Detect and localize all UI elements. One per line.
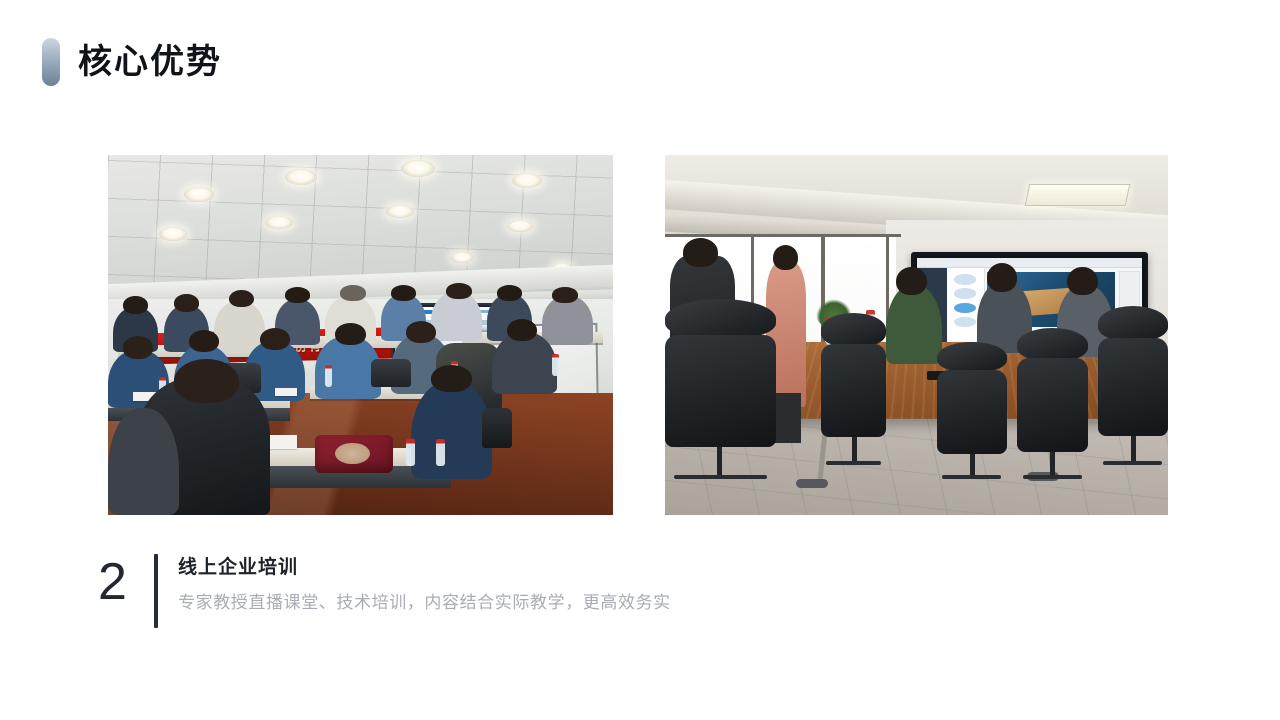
header-bullet-icon bbox=[42, 38, 60, 86]
page-title: 核心优势 bbox=[78, 45, 222, 79]
attendee-head bbox=[683, 238, 718, 267]
caption-subtitle: 专家教授直播课堂、技术培训，内容结合实际教学，更高效务实 bbox=[178, 591, 671, 617]
attendee-head bbox=[406, 321, 436, 343]
attendee-head bbox=[446, 283, 471, 299]
water-bottle bbox=[436, 439, 445, 466]
attendee-head bbox=[896, 267, 926, 296]
attendee-head bbox=[1067, 267, 1097, 296]
participant-avatar bbox=[954, 274, 976, 284]
chair-backrest bbox=[1017, 358, 1087, 452]
attendee-head bbox=[174, 294, 199, 312]
page-header: 核心优势 bbox=[42, 38, 222, 86]
chair-post bbox=[717, 447, 722, 476]
caption-divider bbox=[154, 554, 158, 628]
attendee bbox=[431, 292, 482, 341]
chair-backrest bbox=[665, 335, 776, 447]
chair-post bbox=[1131, 436, 1136, 461]
photo-meeting-room[interactable] bbox=[665, 155, 1168, 515]
ceiling-light-panel-icon bbox=[1025, 184, 1130, 206]
chair-base bbox=[942, 475, 1001, 479]
chair-post bbox=[852, 437, 857, 461]
downlight-icon bbox=[265, 216, 293, 229]
downlight-icon bbox=[512, 173, 542, 188]
attendee bbox=[492, 332, 558, 394]
participant-avatar bbox=[954, 303, 976, 313]
attendee-head bbox=[174, 359, 240, 404]
audience-area bbox=[108, 292, 613, 515]
chair-base bbox=[674, 475, 767, 479]
office-chair bbox=[821, 313, 886, 464]
attendee-head bbox=[260, 328, 290, 350]
chair-headrest bbox=[665, 299, 776, 339]
water-bottle bbox=[552, 354, 559, 376]
caption-text-group: 线上企业培训 专家教授直播课堂、技术培训，内容结合实际教学，更高效务实 bbox=[178, 548, 671, 616]
attendee bbox=[214, 301, 265, 352]
attendee-head bbox=[431, 365, 471, 392]
attendee-head bbox=[497, 285, 522, 301]
table-foot bbox=[796, 479, 828, 488]
attendee bbox=[542, 296, 593, 345]
attendee-head bbox=[391, 285, 416, 301]
attendee-head bbox=[123, 296, 148, 314]
attendee bbox=[411, 381, 492, 479]
photo-meeting-room-content bbox=[665, 155, 1168, 515]
app-toolbar bbox=[917, 258, 1141, 268]
attendee-head bbox=[552, 287, 577, 303]
attendee bbox=[886, 285, 941, 364]
chair-back bbox=[371, 359, 411, 387]
window-header bbox=[665, 234, 901, 237]
chair-backrest bbox=[1098, 338, 1168, 436]
handout-paper bbox=[275, 388, 297, 396]
attendee-foreground bbox=[108, 408, 179, 515]
participant-avatar bbox=[954, 317, 976, 327]
attendee-head bbox=[340, 285, 365, 301]
photo-classroom[interactable]: 杭州汽轮机股份有限公司 培训 bbox=[108, 155, 613, 515]
participant-avatar bbox=[954, 288, 976, 298]
office-chair bbox=[665, 299, 776, 479]
water-bottle bbox=[406, 439, 415, 466]
office-chair bbox=[1098, 306, 1168, 464]
chair-headrest bbox=[821, 313, 886, 346]
chair-headrest bbox=[937, 342, 1007, 372]
chair-post bbox=[970, 454, 975, 476]
chair-backrest bbox=[937, 370, 1007, 455]
handbag bbox=[315, 435, 393, 473]
chair-headrest bbox=[1098, 306, 1168, 341]
chair-base bbox=[1103, 461, 1162, 465]
photo-classroom-content: 杭州汽轮机股份有限公司 培训 bbox=[108, 155, 613, 515]
caption-number: 2 bbox=[98, 548, 146, 608]
chair-base bbox=[1023, 475, 1082, 479]
attendee-head bbox=[189, 330, 219, 352]
attendee-head bbox=[987, 263, 1017, 292]
downlight-icon bbox=[159, 227, 187, 241]
attendee-head bbox=[123, 336, 153, 358]
office-chair bbox=[1017, 328, 1087, 479]
attendee-head bbox=[229, 290, 254, 308]
office-chair bbox=[937, 342, 1007, 479]
water-bottle bbox=[325, 365, 332, 387]
attendee-head bbox=[285, 287, 310, 303]
caption-block: 2 线上企业培训 专家教授直播课堂、技术培训，内容结合实际教学，更高效务实 bbox=[98, 548, 671, 628]
attendee-head bbox=[335, 323, 365, 345]
downlight-icon bbox=[507, 220, 533, 232]
chair-base bbox=[826, 461, 881, 465]
caption-title: 线上企业培训 bbox=[178, 554, 671, 581]
chair-backrest bbox=[821, 344, 886, 438]
slide-root: 核心优势 杭州汽轮机股份有限公司 bbox=[0, 0, 1280, 720]
attendee-head bbox=[507, 319, 537, 341]
chair-headrest bbox=[1017, 328, 1087, 361]
chair-back bbox=[482, 408, 512, 448]
chair-post bbox=[1050, 452, 1055, 476]
presenter-head bbox=[773, 245, 798, 270]
